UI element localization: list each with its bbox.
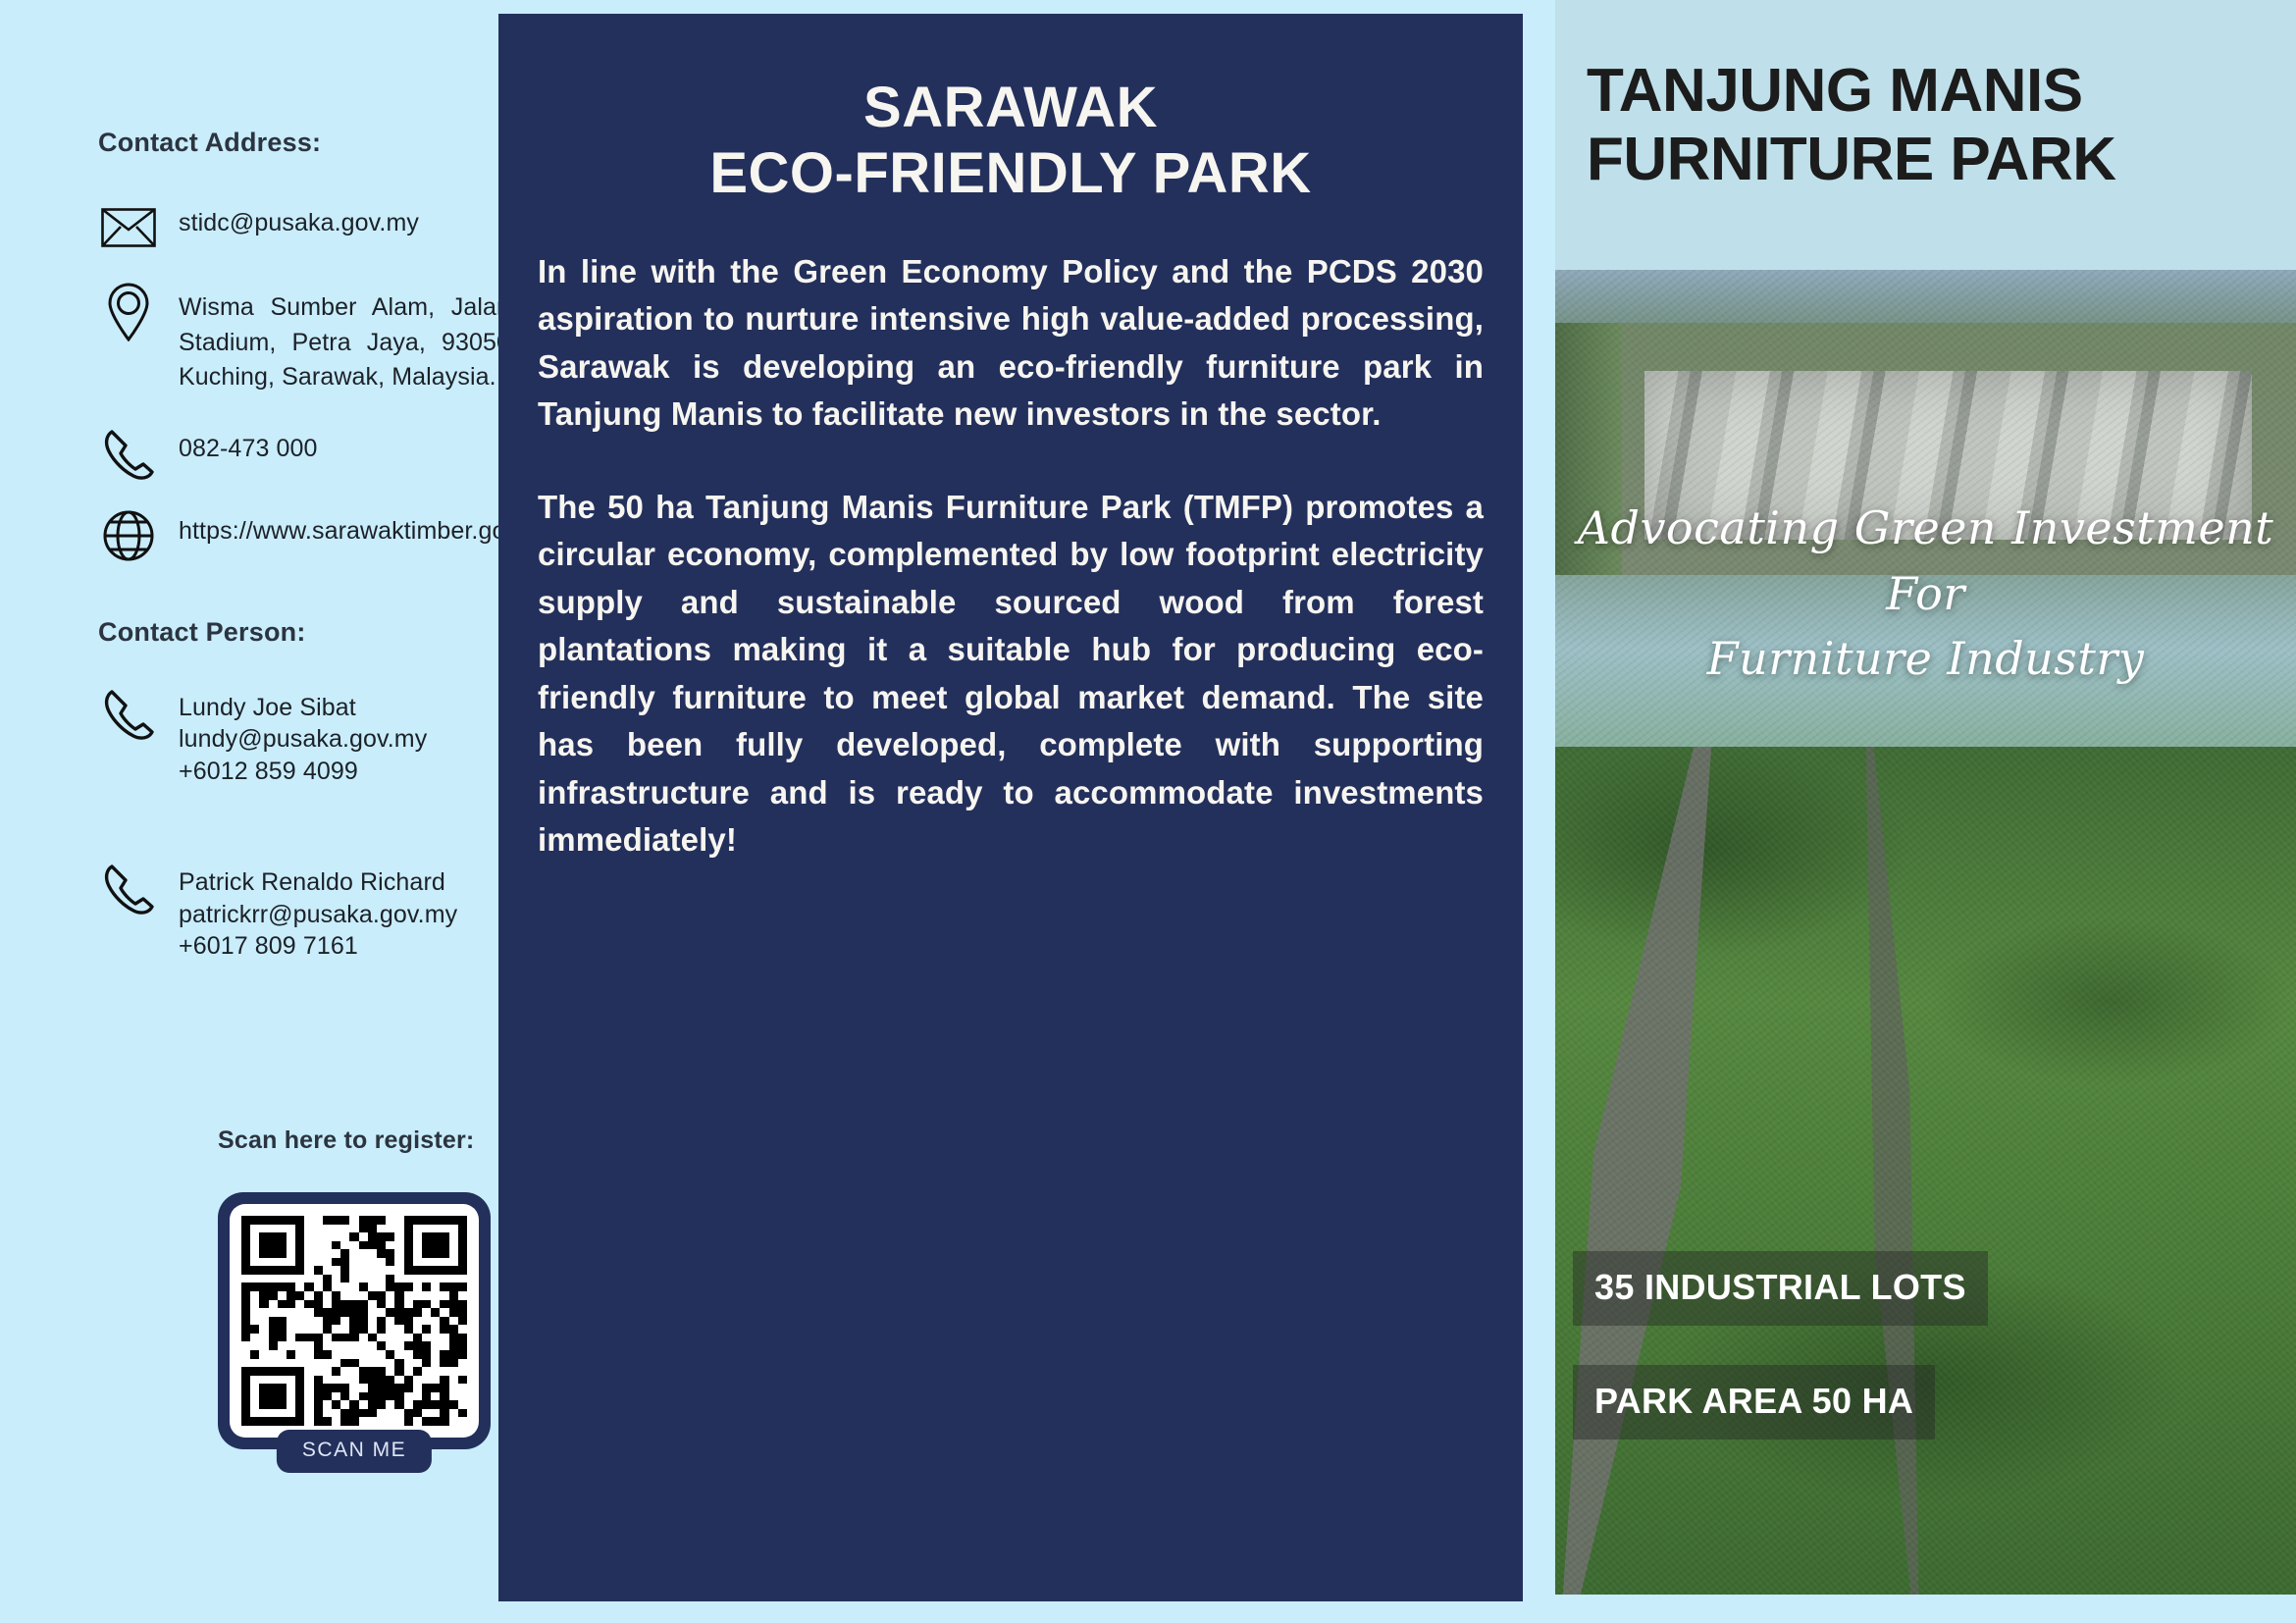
stat-industrial-lots: 35 INDUSTRIAL LOTS — [1573, 1251, 1988, 1326]
contact-person-2-details: Patrick Renaldo Richard patrickrr@pusaka… — [179, 860, 510, 963]
stat-park-area: PARK AREA 50 HA — [1573, 1365, 1935, 1440]
contact-person-2-email: patrickrr@pusaka.gov.my — [179, 901, 457, 928]
qr-code-canvas — [230, 1204, 479, 1438]
contact-person-1[interactable]: Lundy Joe Sibat lundy@pusaka.gov.my +601… — [98, 685, 510, 788]
contact-person-1-details: Lundy Joe Sibat lundy@pusaka.gov.my +601… — [179, 685, 510, 788]
qr-caption: Scan here to register: — [218, 1126, 512, 1155]
cover-title-line2: FURNITURE PARK — [1587, 126, 2281, 194]
contact-person-1-email: lundy@pusaka.gov.my — [179, 725, 427, 753]
page-title-line1: SARAWAK — [863, 76, 1158, 139]
contact-panel: Contact Address: stidc@pusaka.gov.my Wis… — [0, 0, 498, 1623]
qr-modules — [241, 1216, 467, 1426]
contact-row-address: Wisma Sumber Alam, Jalan Stadium, Petra … — [98, 284, 510, 395]
phone-icon — [98, 860, 159, 916]
overview-paragraph-2: The 50 ha Tanjung Manis Furniture Park (… — [538, 484, 1484, 864]
map-pin-icon — [98, 284, 159, 340]
qr-block: Scan here to register: SCAN ME — [218, 1126, 512, 1449]
scan-me-badge: SCAN ME — [277, 1430, 432, 1473]
contact-person-1-name: Lundy Joe Sibat — [179, 694, 356, 721]
phone-icon — [98, 685, 159, 742]
envelope-icon — [98, 199, 159, 256]
contact-person-2-mobile: +6017 809 7161 — [179, 932, 358, 960]
contact-person-2-name: Patrick Renaldo Richard — [179, 868, 445, 896]
contact-row-website[interactable]: https://www.sarawaktimber.gov.my — [98, 507, 510, 564]
cover-tagline: Advocating Green Investment For Furnitur… — [1555, 496, 2296, 692]
globe-icon — [98, 507, 159, 564]
contact-phone-value: 082-473 000 — [179, 425, 510, 467]
page-title-line2: ECO-FRIENDLY PARK — [538, 140, 1484, 206]
cover-title-line1: TANJUNG MANIS — [1587, 57, 2083, 125]
contact-address-value: Wisma Sumber Alam, Jalan Stadium, Petra … — [179, 284, 510, 395]
contact-row-email[interactable]: stidc@pusaka.gov.my — [98, 199, 510, 256]
contact-person-1-mobile: +6012 859 4099 — [179, 758, 358, 785]
contact-person-heading: Contact Person: — [98, 617, 510, 648]
contact-row-phone[interactable]: 082-473 000 — [98, 425, 510, 482]
cover-panel: TANJUNG MANIS FURNITURE PARK Advocating … — [1523, 0, 2296, 1623]
phone-icon — [98, 425, 159, 482]
contact-panel-inner: Contact Address: stidc@pusaka.gov.my Wis… — [98, 128, 510, 963]
contact-email-value: stidc@pusaka.gov.my — [179, 199, 510, 241]
cover-title: TANJUNG MANIS FURNITURE PARK — [1555, 57, 2281, 194]
overview-paragraph-1: In line with the Green Economy Policy an… — [538, 248, 1484, 439]
aerial-photo: Advocating Green Investment For Furnitur… — [1555, 270, 2296, 1595]
page-title: SARAWAK ECO-FRIENDLY PARK — [538, 75, 1484, 207]
cover-tagline-line1: Advocating Green Investment For — [1578, 501, 2273, 620]
contact-address-heading: Contact Address: — [98, 128, 510, 158]
overview-panel: SARAWAK ECO-FRIENDLY PARK In line with t… — [498, 14, 1523, 1601]
cover-tagline-line2: Furniture Industry — [1555, 626, 2296, 692]
contact-person-2[interactable]: Patrick Renaldo Richard patrickrr@pusaka… — [98, 860, 510, 963]
qr-code[interactable]: SCAN ME — [218, 1192, 491, 1449]
